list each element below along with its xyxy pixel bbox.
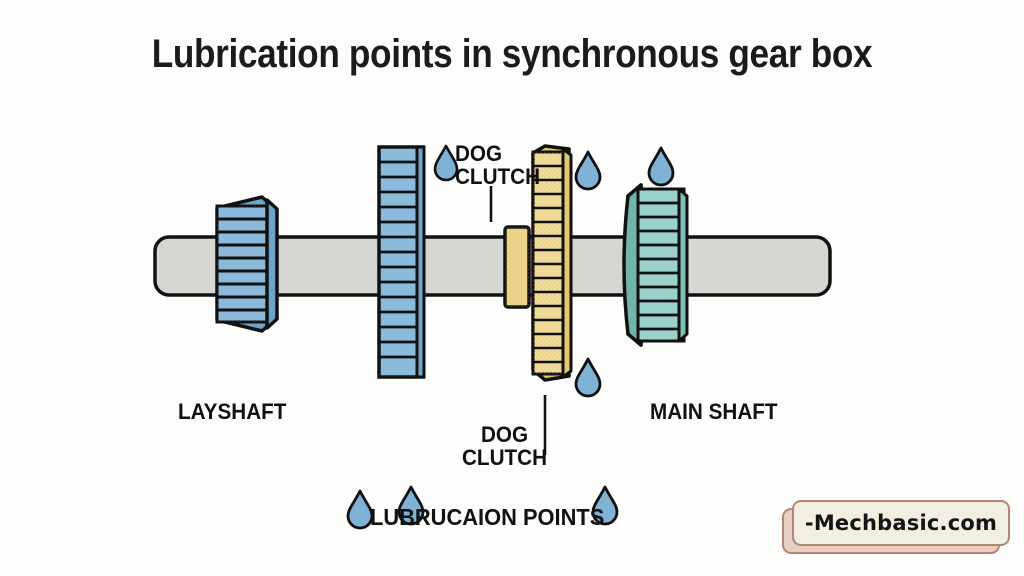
label-main-shaft: MAIN SHAFT [650, 400, 778, 423]
label-dog-clutch-bottom-line1: DOG [462, 423, 547, 446]
watermark-badge: -Mechbasic.com [782, 500, 1010, 558]
watermark-text: -Mechbasic.com [805, 511, 997, 535]
label-lubrication-points: LUBRUCAION POINTS [370, 505, 604, 529]
label-dog-clutch-top: DOG CLUTCH [455, 142, 540, 189]
gearbox-illustration [0, 0, 1024, 576]
droplet-upper-right [649, 148, 673, 185]
main-shaft-gear [624, 185, 687, 345]
diagram-canvas: Lubrication points in synchronous gear b… [0, 0, 1024, 576]
dog-clutch-collar [505, 227, 529, 307]
droplet-legend-left [348, 491, 372, 528]
large-blue-gear [379, 147, 424, 377]
label-layshaft: LAYSHAFT [178, 400, 286, 423]
label-dog-clutch-top-line2: CLUTCH [455, 165, 540, 188]
droplet-upper-middle [576, 152, 600, 189]
label-dog-clutch-bottom-line2: CLUTCH [462, 446, 547, 469]
droplet-lower-middle [576, 359, 600, 396]
watermark-face: -Mechbasic.com [792, 500, 1010, 546]
label-dog-clutch-top-line1: DOG [455, 142, 540, 165]
label-dog-clutch-bottom: DOG CLUTCH [462, 423, 547, 470]
layshaft-gear [217, 197, 277, 331]
droplet-dog-clutch-label [435, 146, 457, 180]
